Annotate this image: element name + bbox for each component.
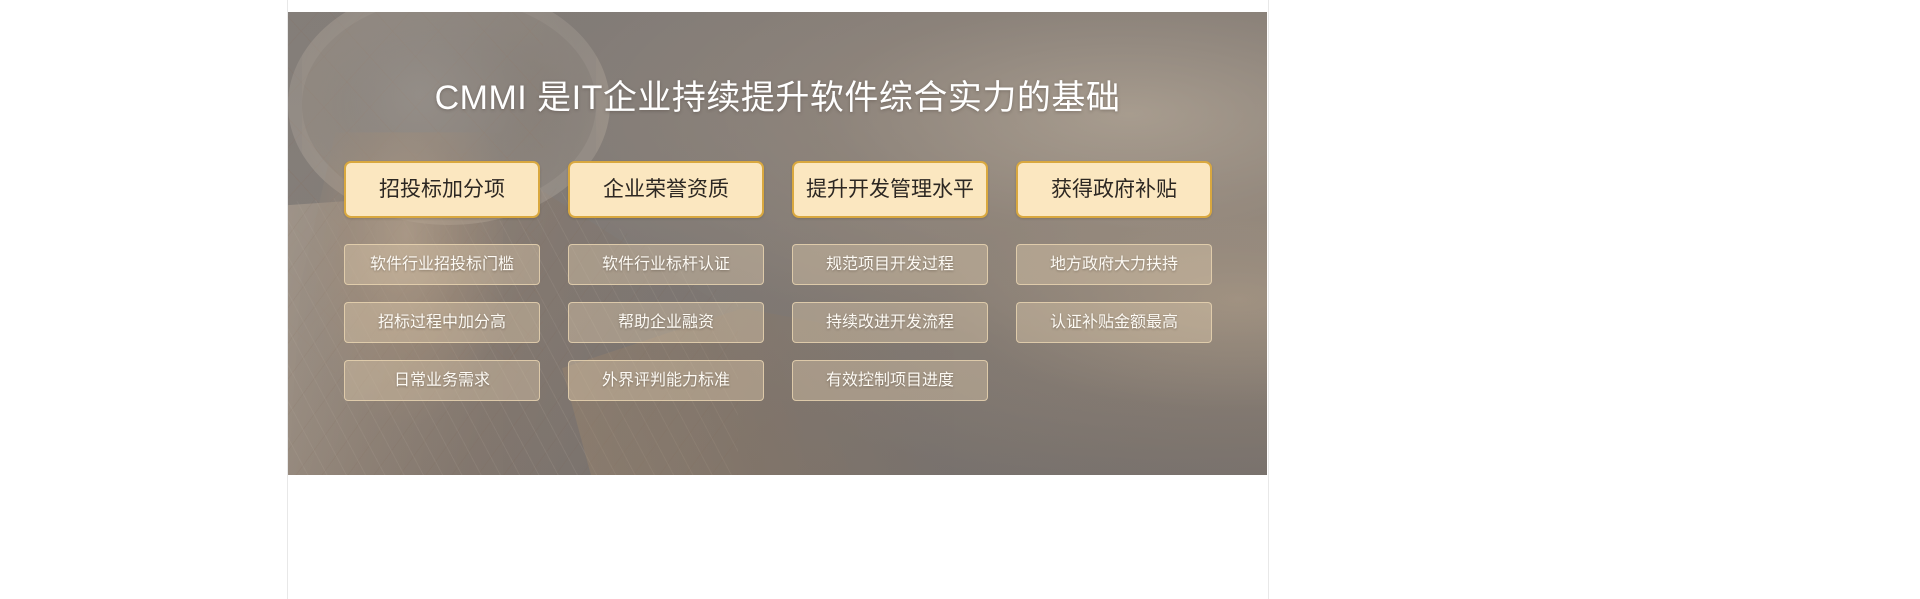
list-item[interactable]: 外界评判能力标准: [568, 360, 764, 401]
banner-content: CMMI 是IT企业持续提升软件综合实力的基础 招投标加分项 软件行业招投标门槛…: [288, 12, 1267, 475]
benefit-column-2-header[interactable]: 企业荣誉资质: [568, 161, 764, 218]
benefit-column-3-header[interactable]: 提升开发管理水平: [792, 161, 988, 218]
list-item[interactable]: 日常业务需求: [344, 360, 540, 401]
list-item[interactable]: 持续改进开发流程: [792, 302, 988, 343]
list-item[interactable]: 规范项目开发过程: [792, 244, 988, 285]
page-right-rule: [1268, 0, 1269, 599]
benefit-column-1: 招投标加分项 软件行业招投标门槛 招标过程中加分高 日常业务需求: [344, 161, 540, 401]
benefit-column-4-header[interactable]: 获得政府补贴: [1016, 161, 1212, 218]
list-item[interactable]: 有效控制项目进度: [792, 360, 988, 401]
list-item[interactable]: 软件行业标杆认证: [568, 244, 764, 285]
benefit-column-1-items: 软件行业招投标门槛 招标过程中加分高 日常业务需求: [344, 244, 540, 401]
benefit-column-4: 获得政府补贴 地方政府大力扶持 认证补贴金额最高: [1016, 161, 1212, 401]
banner-headline: CMMI 是IT企业持续提升软件综合实力的基础: [288, 76, 1267, 120]
page-canvas: CMMI 是IT企业持续提升软件综合实力的基础 招投标加分项 软件行业招投标门槛…: [0, 0, 1920, 599]
benefit-column-1-header[interactable]: 招投标加分项: [344, 161, 540, 218]
benefit-column-3: 提升开发管理水平 规范项目开发过程 持续改进开发流程 有效控制项目进度: [792, 161, 988, 401]
list-item[interactable]: 认证补贴金额最高: [1016, 302, 1212, 343]
benefit-column-4-items: 地方政府大力扶持 认证补贴金额最高: [1016, 244, 1212, 343]
cmmi-promo-banner: CMMI 是IT企业持续提升软件综合实力的基础 招投标加分项 软件行业招投标门槛…: [288, 12, 1267, 475]
list-item[interactable]: 地方政府大力扶持: [1016, 244, 1212, 285]
list-item[interactable]: 帮助企业融资: [568, 302, 764, 343]
benefit-columns: 招投标加分项 软件行业招投标门槛 招标过程中加分高 日常业务需求 企业荣誉资质 …: [344, 161, 1212, 401]
benefit-column-2: 企业荣誉资质 软件行业标杆认证 帮助企业融资 外界评判能力标准: [568, 161, 764, 401]
benefit-column-2-items: 软件行业标杆认证 帮助企业融资 外界评判能力标准: [568, 244, 764, 401]
list-item[interactable]: 招标过程中加分高: [344, 302, 540, 343]
list-item[interactable]: 软件行业招投标门槛: [344, 244, 540, 285]
benefit-column-3-items: 规范项目开发过程 持续改进开发流程 有效控制项目进度: [792, 244, 988, 401]
